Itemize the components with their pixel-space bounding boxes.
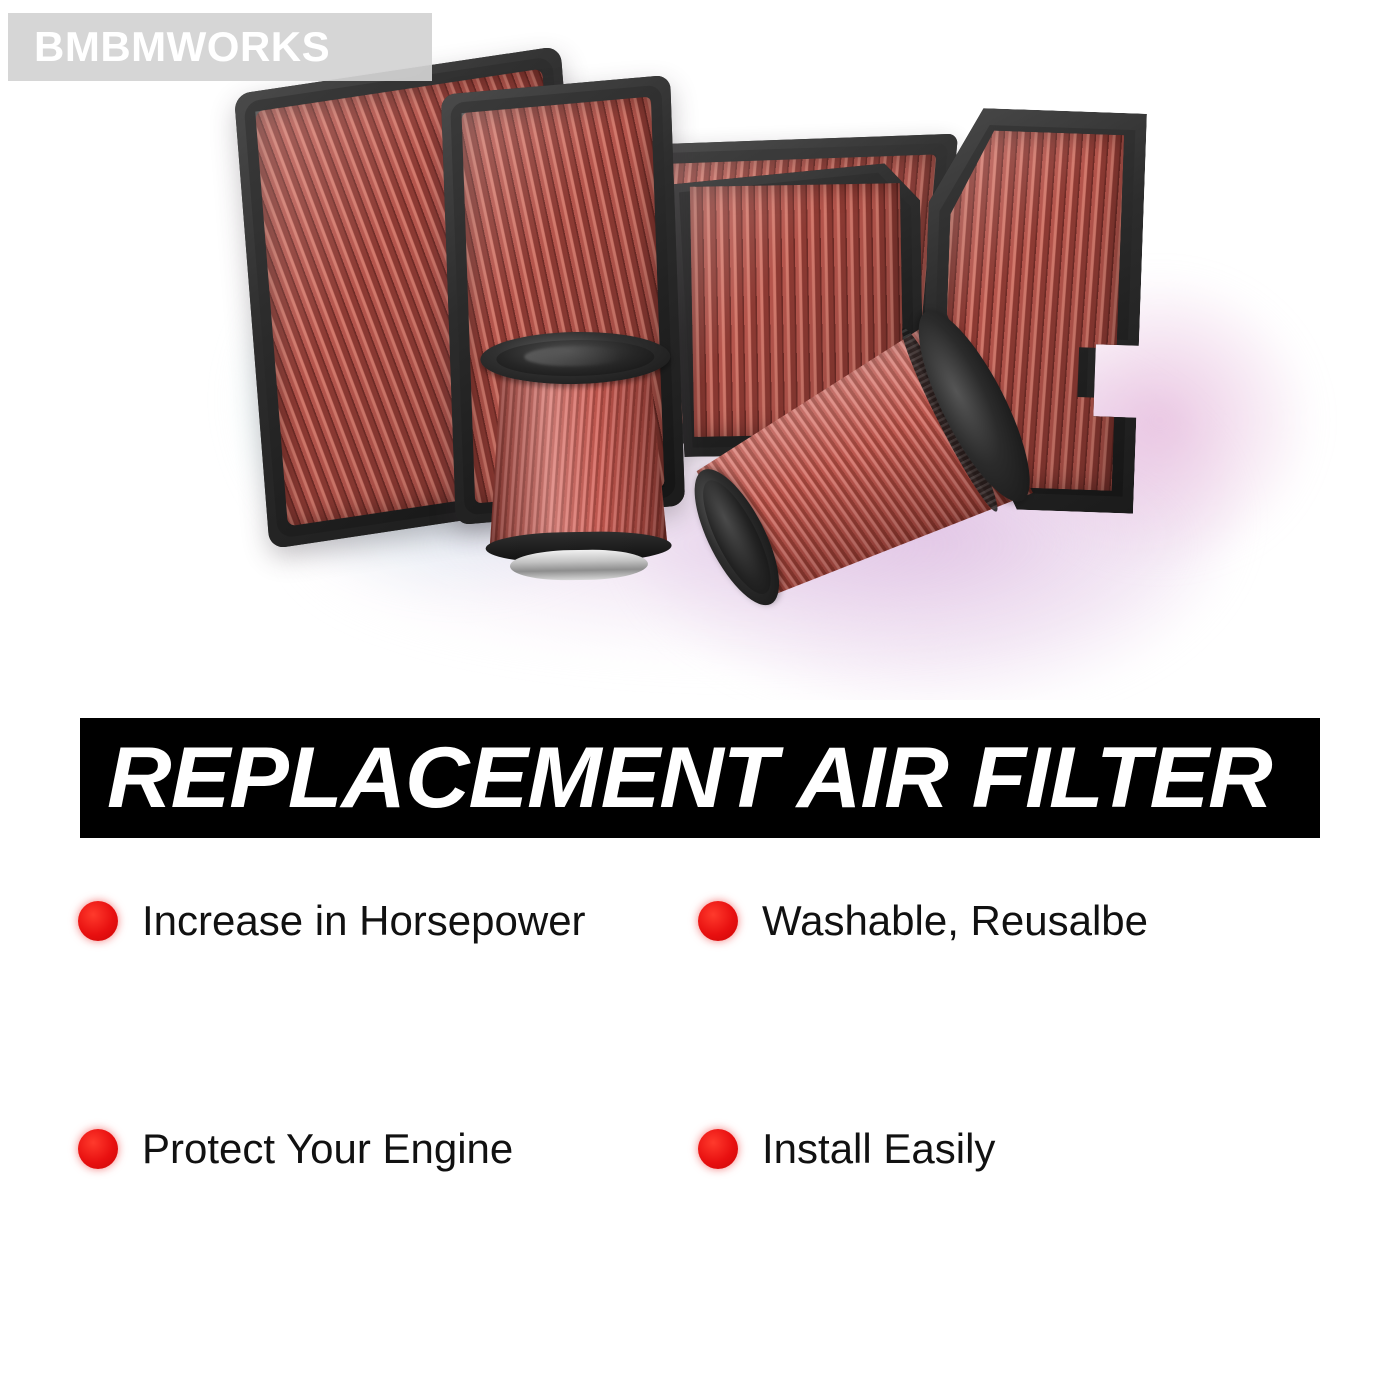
brand-watermark: BMBMWORKS xyxy=(8,13,432,81)
feature-item-washable-reusable: Washable, Reusalbe xyxy=(698,900,1148,942)
feature-item-protect-your-engine: Protect Your Engine xyxy=(78,1128,513,1170)
page-title: REPLACEMENT AIR FILTER xyxy=(80,735,1370,821)
feature-label: Protect Your Engine xyxy=(142,1128,513,1170)
title-banner: REPLACEMENT AIR FILTER xyxy=(80,718,1320,838)
feature-item-install-easily: Install Easily xyxy=(698,1128,995,1170)
bullet-dot-icon xyxy=(698,1129,738,1169)
feature-label: Install Easily xyxy=(762,1128,995,1170)
feature-item-increase-in-horsepower: Increase in Horsepower xyxy=(78,900,586,942)
brand-watermark-text: BMBMWORKS xyxy=(8,23,330,71)
feature-list: Increase in Horsepower Washable, Reusalb… xyxy=(70,880,1330,1210)
bullet-dot-icon xyxy=(698,901,738,941)
bullet-dot-icon xyxy=(78,1129,118,1169)
cone-filter-upright xyxy=(480,316,675,591)
bullet-dot-icon xyxy=(78,901,118,941)
feature-label: Increase in Horsepower xyxy=(142,900,586,942)
product-photo xyxy=(0,0,1400,700)
feature-label: Washable, Reusalbe xyxy=(762,900,1148,942)
cone-filter-chrome-ring xyxy=(510,549,649,581)
